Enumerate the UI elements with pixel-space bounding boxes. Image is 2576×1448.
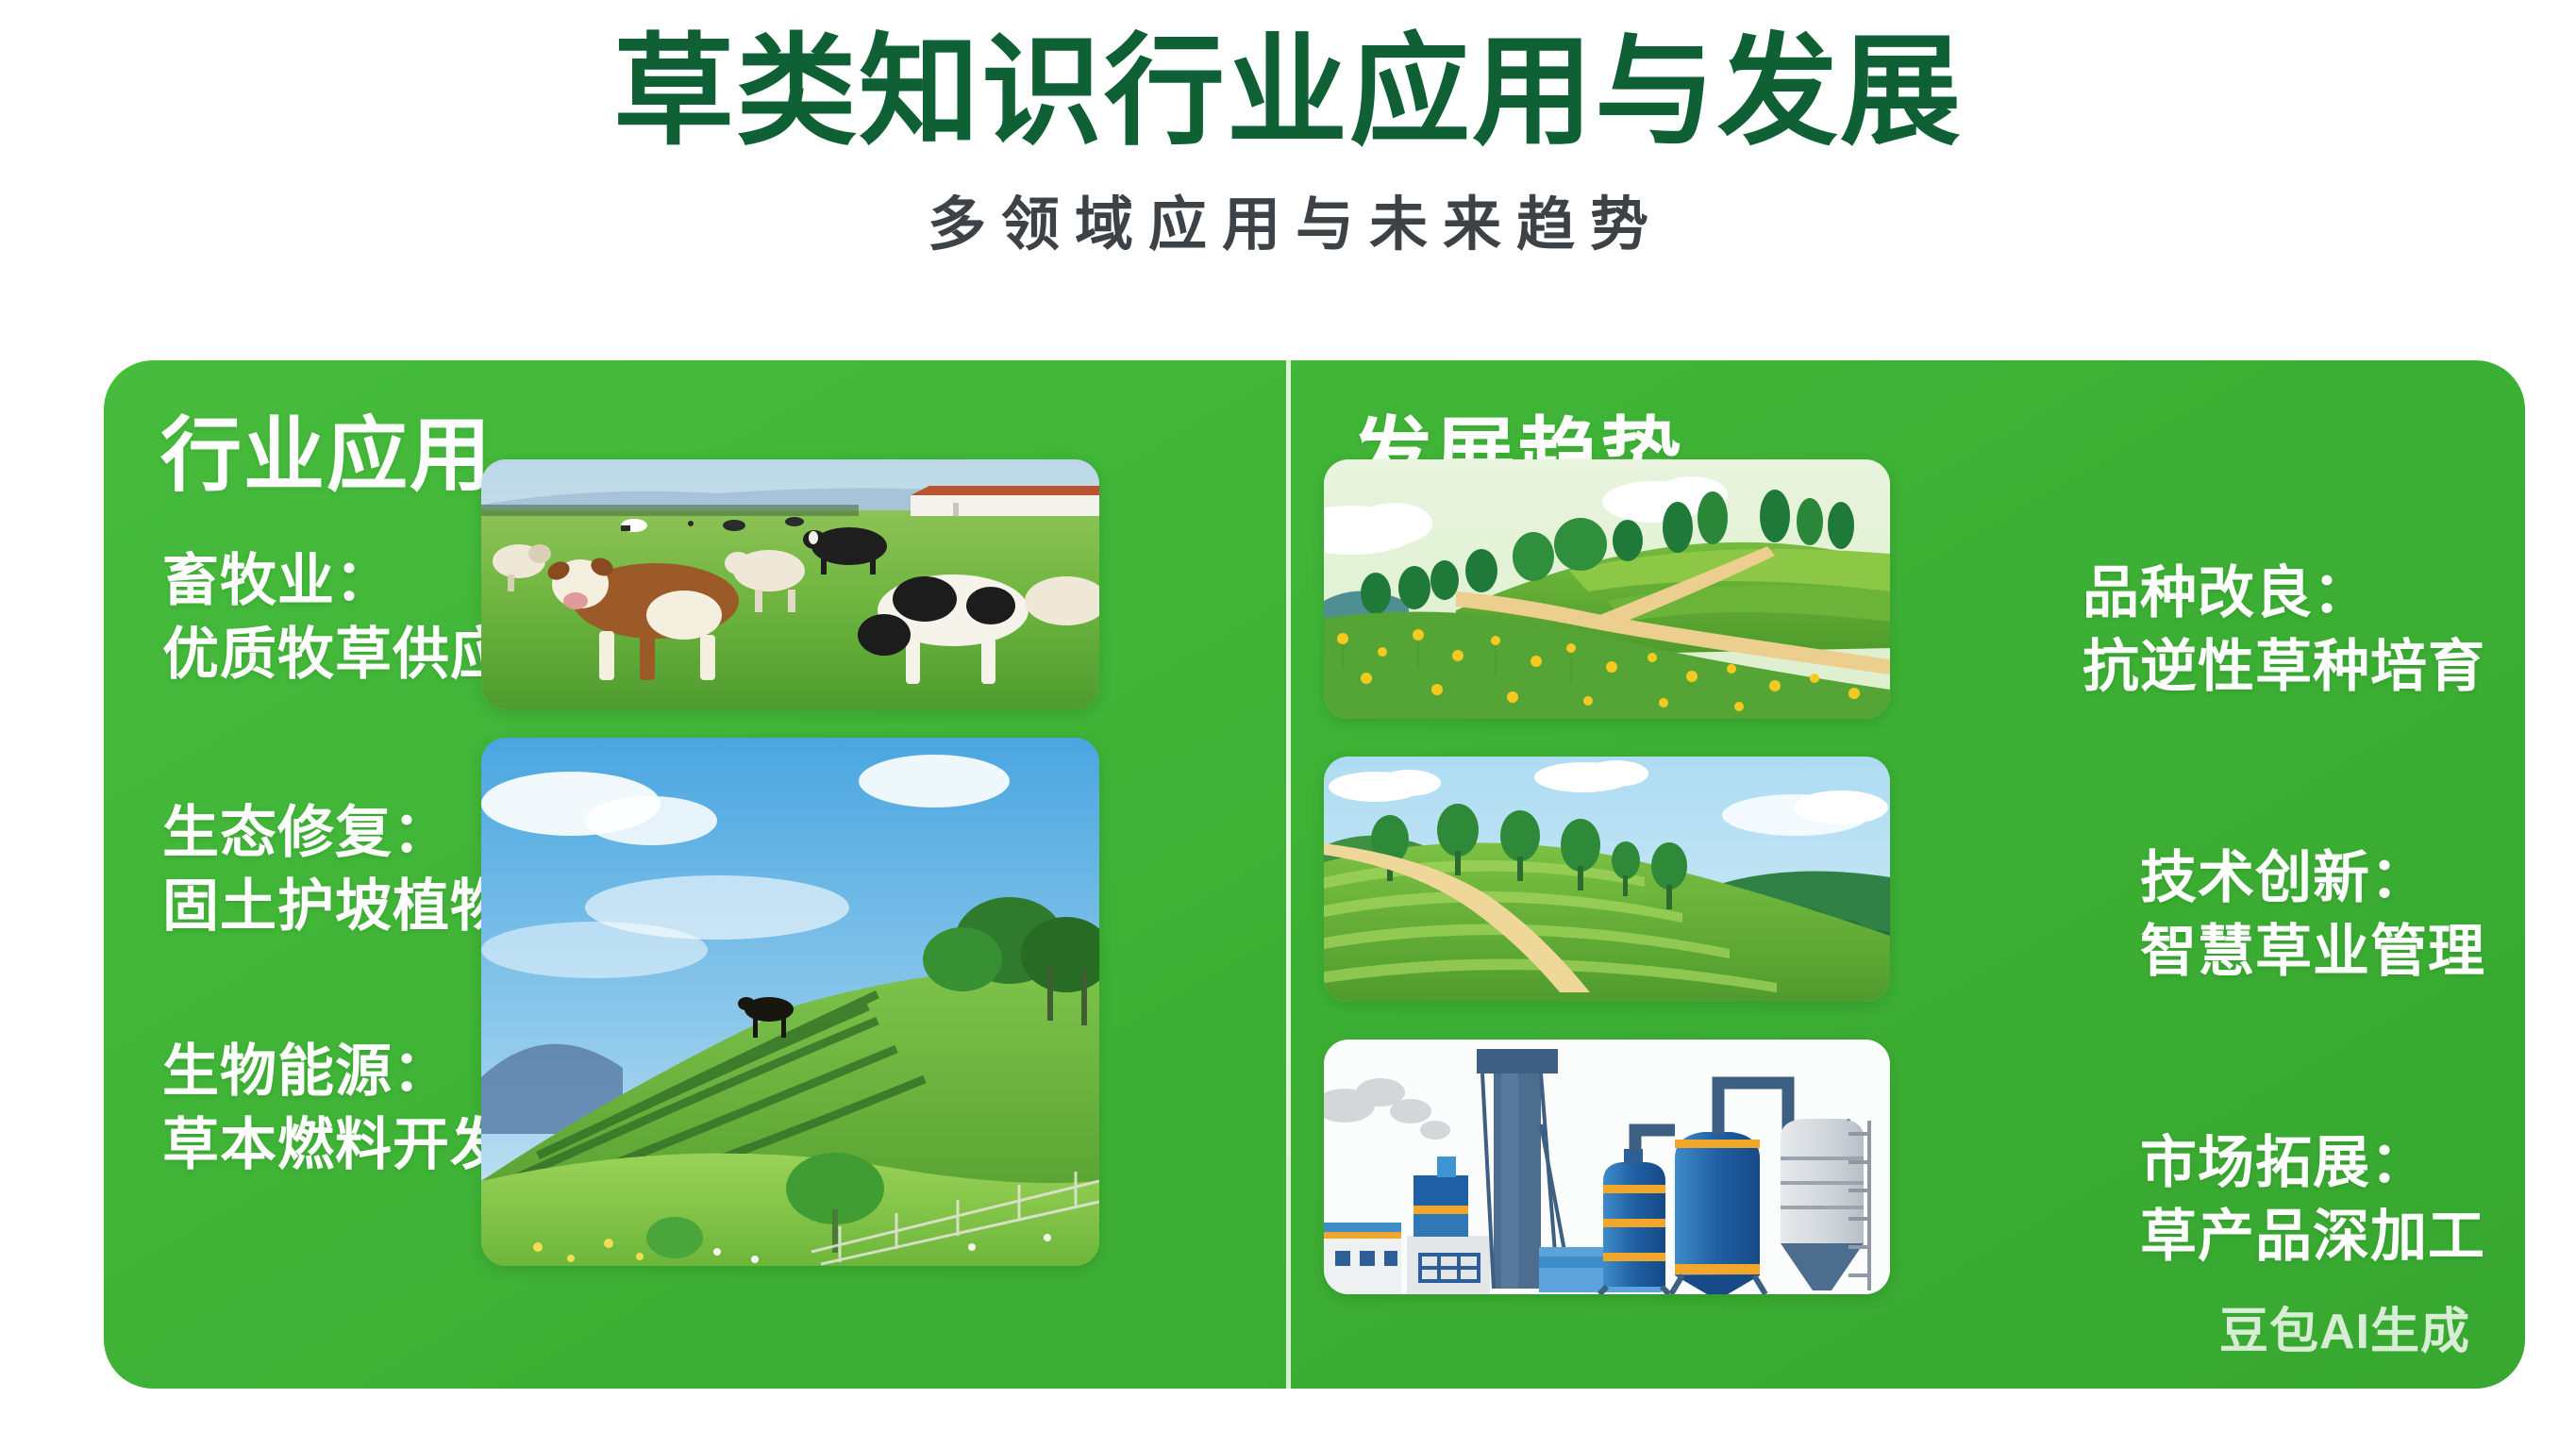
item-detail: 抗逆性草种培育 <box>2083 630 2485 704</box>
item-detail: 草本燃料开发 <box>162 1108 508 1182</box>
item-label: 畜牧业： <box>162 544 508 618</box>
item-label: 品种改良： <box>2083 557 2485 630</box>
item-detail: 草产品深加工 <box>2140 1200 2485 1273</box>
item-detail: 固土护坡植物 <box>162 870 508 943</box>
processing-plant-illustration <box>1324 1040 1890 1294</box>
list-item-market-expansion[interactable]: 市场拓展： 草产品深加工 <box>2140 1126 2485 1273</box>
watermark-label: 豆包AI生成 <box>2219 1291 2470 1362</box>
list-item-livestock[interactable]: 畜牧业： 优质牧草供应 <box>162 544 508 691</box>
panel-industry-applications: 行业应用 畜牧业： 优质牧草供应 生态修复： 固土护坡植物 生物能源： 草本燃料… <box>104 360 1286 1389</box>
grazing-pasture-photo <box>481 459 1099 709</box>
panel-heading-industry-applications: 行业应用 <box>160 389 493 507</box>
list-item-eco-restoration[interactable]: 生态修复： 固土护坡植物 <box>162 796 508 943</box>
list-item-variety-improvement[interactable]: 品种改良： 抗逆性草种培育 <box>2083 557 2485 704</box>
item-detail: 智慧草业管理 <box>2140 915 2485 989</box>
flower-field-illustration <box>1324 459 1890 719</box>
content-board: 行业应用 畜牧业： 优质牧草供应 生态修复： 固土护坡植物 生物能源： 草本燃料… <box>104 360 2525 1389</box>
item-label: 生物能源： <box>162 1035 508 1108</box>
list-item-bioenergy[interactable]: 生物能源： 草本燃料开发 <box>162 1035 508 1182</box>
item-label: 市场拓展： <box>2140 1126 2485 1200</box>
panel-development-trends: 发展趋势 品种改良： 抗逆性草种培育 技术创新： 智慧草业管理 市场拓展： 草产… <box>1291 360 2525 1389</box>
page-header: 草类知识行业应用与发展 多领域应用与未来趋势 <box>0 0 2576 261</box>
item-label: 生态修复： <box>162 796 508 870</box>
page-subtitle: 多领域应用与未来趋势 <box>0 176 2576 261</box>
item-label: 技术创新： <box>2140 841 2485 915</box>
list-item-tech-innovation[interactable]: 技术创新： 智慧草业管理 <box>2140 841 2485 989</box>
terraced-hillside-photo <box>481 738 1099 1266</box>
green-hills-illustration <box>1324 757 1890 1002</box>
page-title: 草类知识行业应用与发展 <box>0 21 2576 163</box>
item-detail: 优质牧草供应 <box>162 618 508 691</box>
